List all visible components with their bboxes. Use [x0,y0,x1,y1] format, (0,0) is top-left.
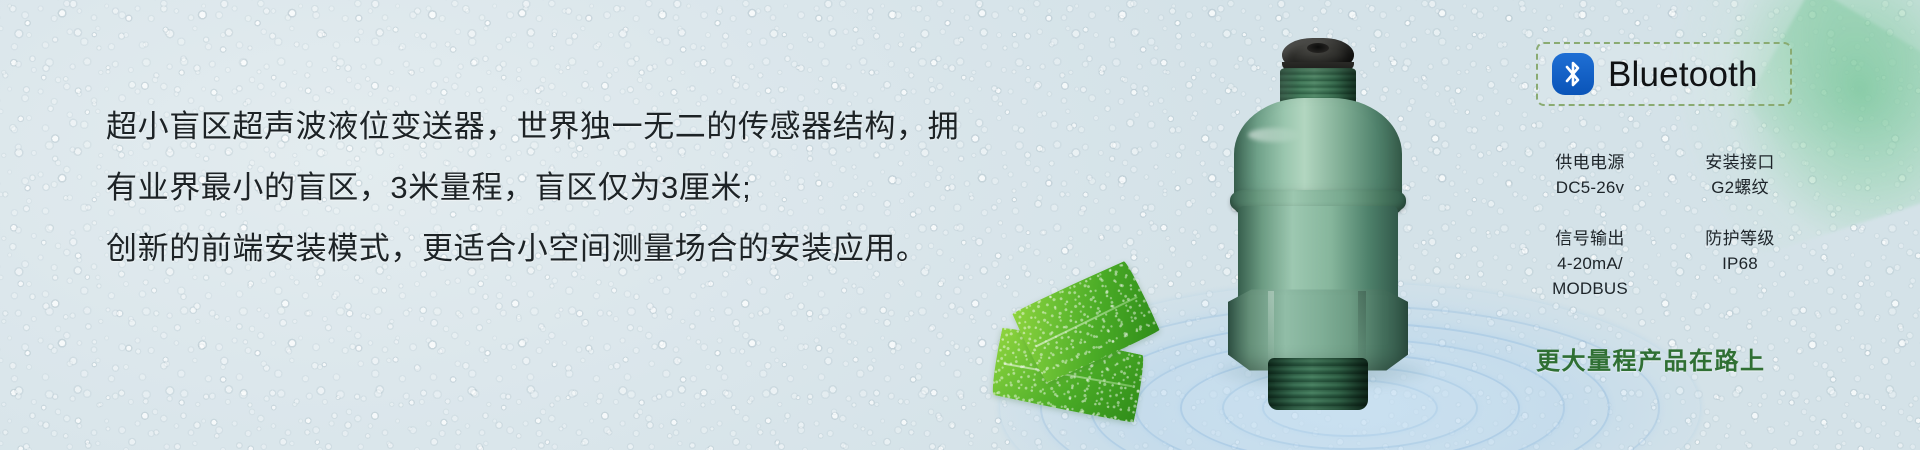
spec-label: 信号输出 [1536,226,1644,251]
headline-line-1: 超小盲区超声波液位变送器，世界独一无二的传感器结构，拥 [106,96,946,157]
product-banner: 超小盲区超声波液位变送器，世界独一无二的传感器结构，拥 有业界最小的盲区，3米量… [0,0,1920,450]
info-panel: Bluetooth 供电电源 DC5-26v 安装接口 G2螺纹 信号输出 4-… [1536,42,1826,376]
spec-label: 供电电源 [1536,150,1644,175]
spec-value: IP68 [1686,251,1794,276]
spec-value: G2螺纹 [1686,175,1794,200]
bluetooth-badge[interactable]: Bluetooth [1536,42,1792,106]
spec-item-protection: 防护等级 IP68 [1686,226,1794,301]
spec-item-output: 信号输出 4-20mA/ MODBUS [1536,226,1644,301]
spec-label: 安装接口 [1686,150,1794,175]
spec-grid: 供电电源 DC5-26v 安装接口 G2螺纹 信号输出 4-20mA/ MODB… [1536,150,1798,301]
product-black-cap [1282,38,1354,72]
headline-copy: 超小盲区超声波液位变送器，世界独一无二的传感器结构，拥 有业界最小的盲区，3米量… [106,96,946,279]
leaf-vein [1035,296,1137,347]
product-bottom-thread [1268,358,1368,410]
headline-line-3: 创新的前端安装模式，更适合小空间测量场合的安装应用。 [106,218,946,279]
bluetooth-icon [1552,53,1594,95]
product-image [1228,38,1408,368]
spec-label: 防护等级 [1686,226,1794,251]
leaf-decoration [990,278,1200,428]
headline-line-2: 有业界最小的盲区，3米量程，盲区仅为3厘米; [106,157,946,218]
tagline: 更大量程产品在路上 [1536,341,1826,376]
spec-value: 4-20mA/ MODBUS [1536,251,1644,301]
spec-item-interface: 安装接口 G2螺纹 [1686,150,1794,200]
spec-item-power: 供电电源 DC5-26v [1536,150,1644,200]
spec-value: DC5-26v [1536,175,1644,200]
bluetooth-label: Bluetooth [1608,57,1758,92]
